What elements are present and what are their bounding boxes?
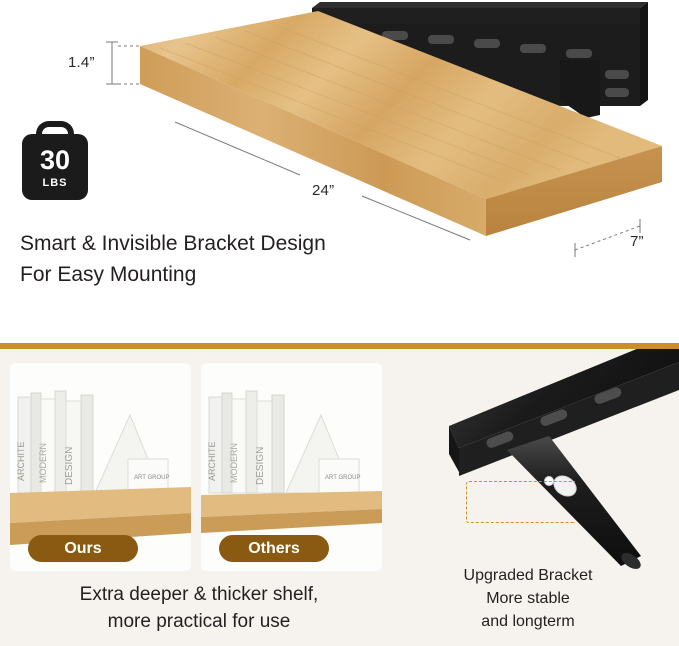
dimension-length: 24”: [312, 182, 334, 199]
headline-line-1: Smart & Invisible Bracket Design: [20, 228, 450, 259]
svg-text:MODERN: MODERN: [229, 443, 239, 483]
bracket-caption-line-3: and longterm: [398, 610, 658, 633]
label-others: Others: [219, 535, 329, 562]
dimension-depth: 7”: [630, 233, 644, 250]
weight-capacity-badge: 30 LBS: [22, 134, 88, 200]
label-ours: Ours: [28, 535, 138, 562]
comparison-caption: Extra deeper & thicker shelf, more pract…: [24, 581, 374, 635]
headline-line-2: For Easy Mounting: [20, 259, 450, 290]
comparison-caption-line-2: more practical for use: [24, 608, 374, 635]
bracket-caption-line-1: Upgraded Bracket: [398, 564, 658, 587]
bracket-caption: Upgraded Bracket More stable and longter…: [398, 564, 658, 633]
comparison-caption-line-1: Extra deeper & thicker shelf,: [24, 581, 374, 608]
svg-text:ARCHITE: ARCHITE: [207, 441, 217, 481]
hero-headline: Smart & Invisible Bracket Design For Eas…: [20, 228, 450, 290]
bracket-closeup: [389, 349, 679, 574]
weight-unit: LBS: [22, 174, 88, 189]
bracket-caption-line-2: More stable: [398, 587, 658, 610]
comparison-panel: ART GROUP ARCHITE MODERN DESIGN: [0, 349, 679, 646]
weight-handle-icon: [36, 121, 74, 149]
shelf-illustration: [0, 0, 679, 343]
svg-text:DESIGN: DESIGN: [255, 447, 266, 485]
callout-dashed-box: [466, 481, 575, 523]
svg-text:ART GROUP: ART GROUP: [134, 475, 169, 481]
svg-text:MODERN: MODERN: [38, 443, 48, 483]
hero-panel: 1.4” 24” 7” 30 LBS Smart & Invisible Bra…: [0, 0, 679, 343]
svg-text:ARCHITE: ARCHITE: [16, 441, 26, 481]
svg-text:DESIGN: DESIGN: [64, 447, 75, 485]
dimension-thickness: 1.4”: [68, 54, 95, 71]
svg-text:ART GROUP: ART GROUP: [325, 475, 360, 481]
